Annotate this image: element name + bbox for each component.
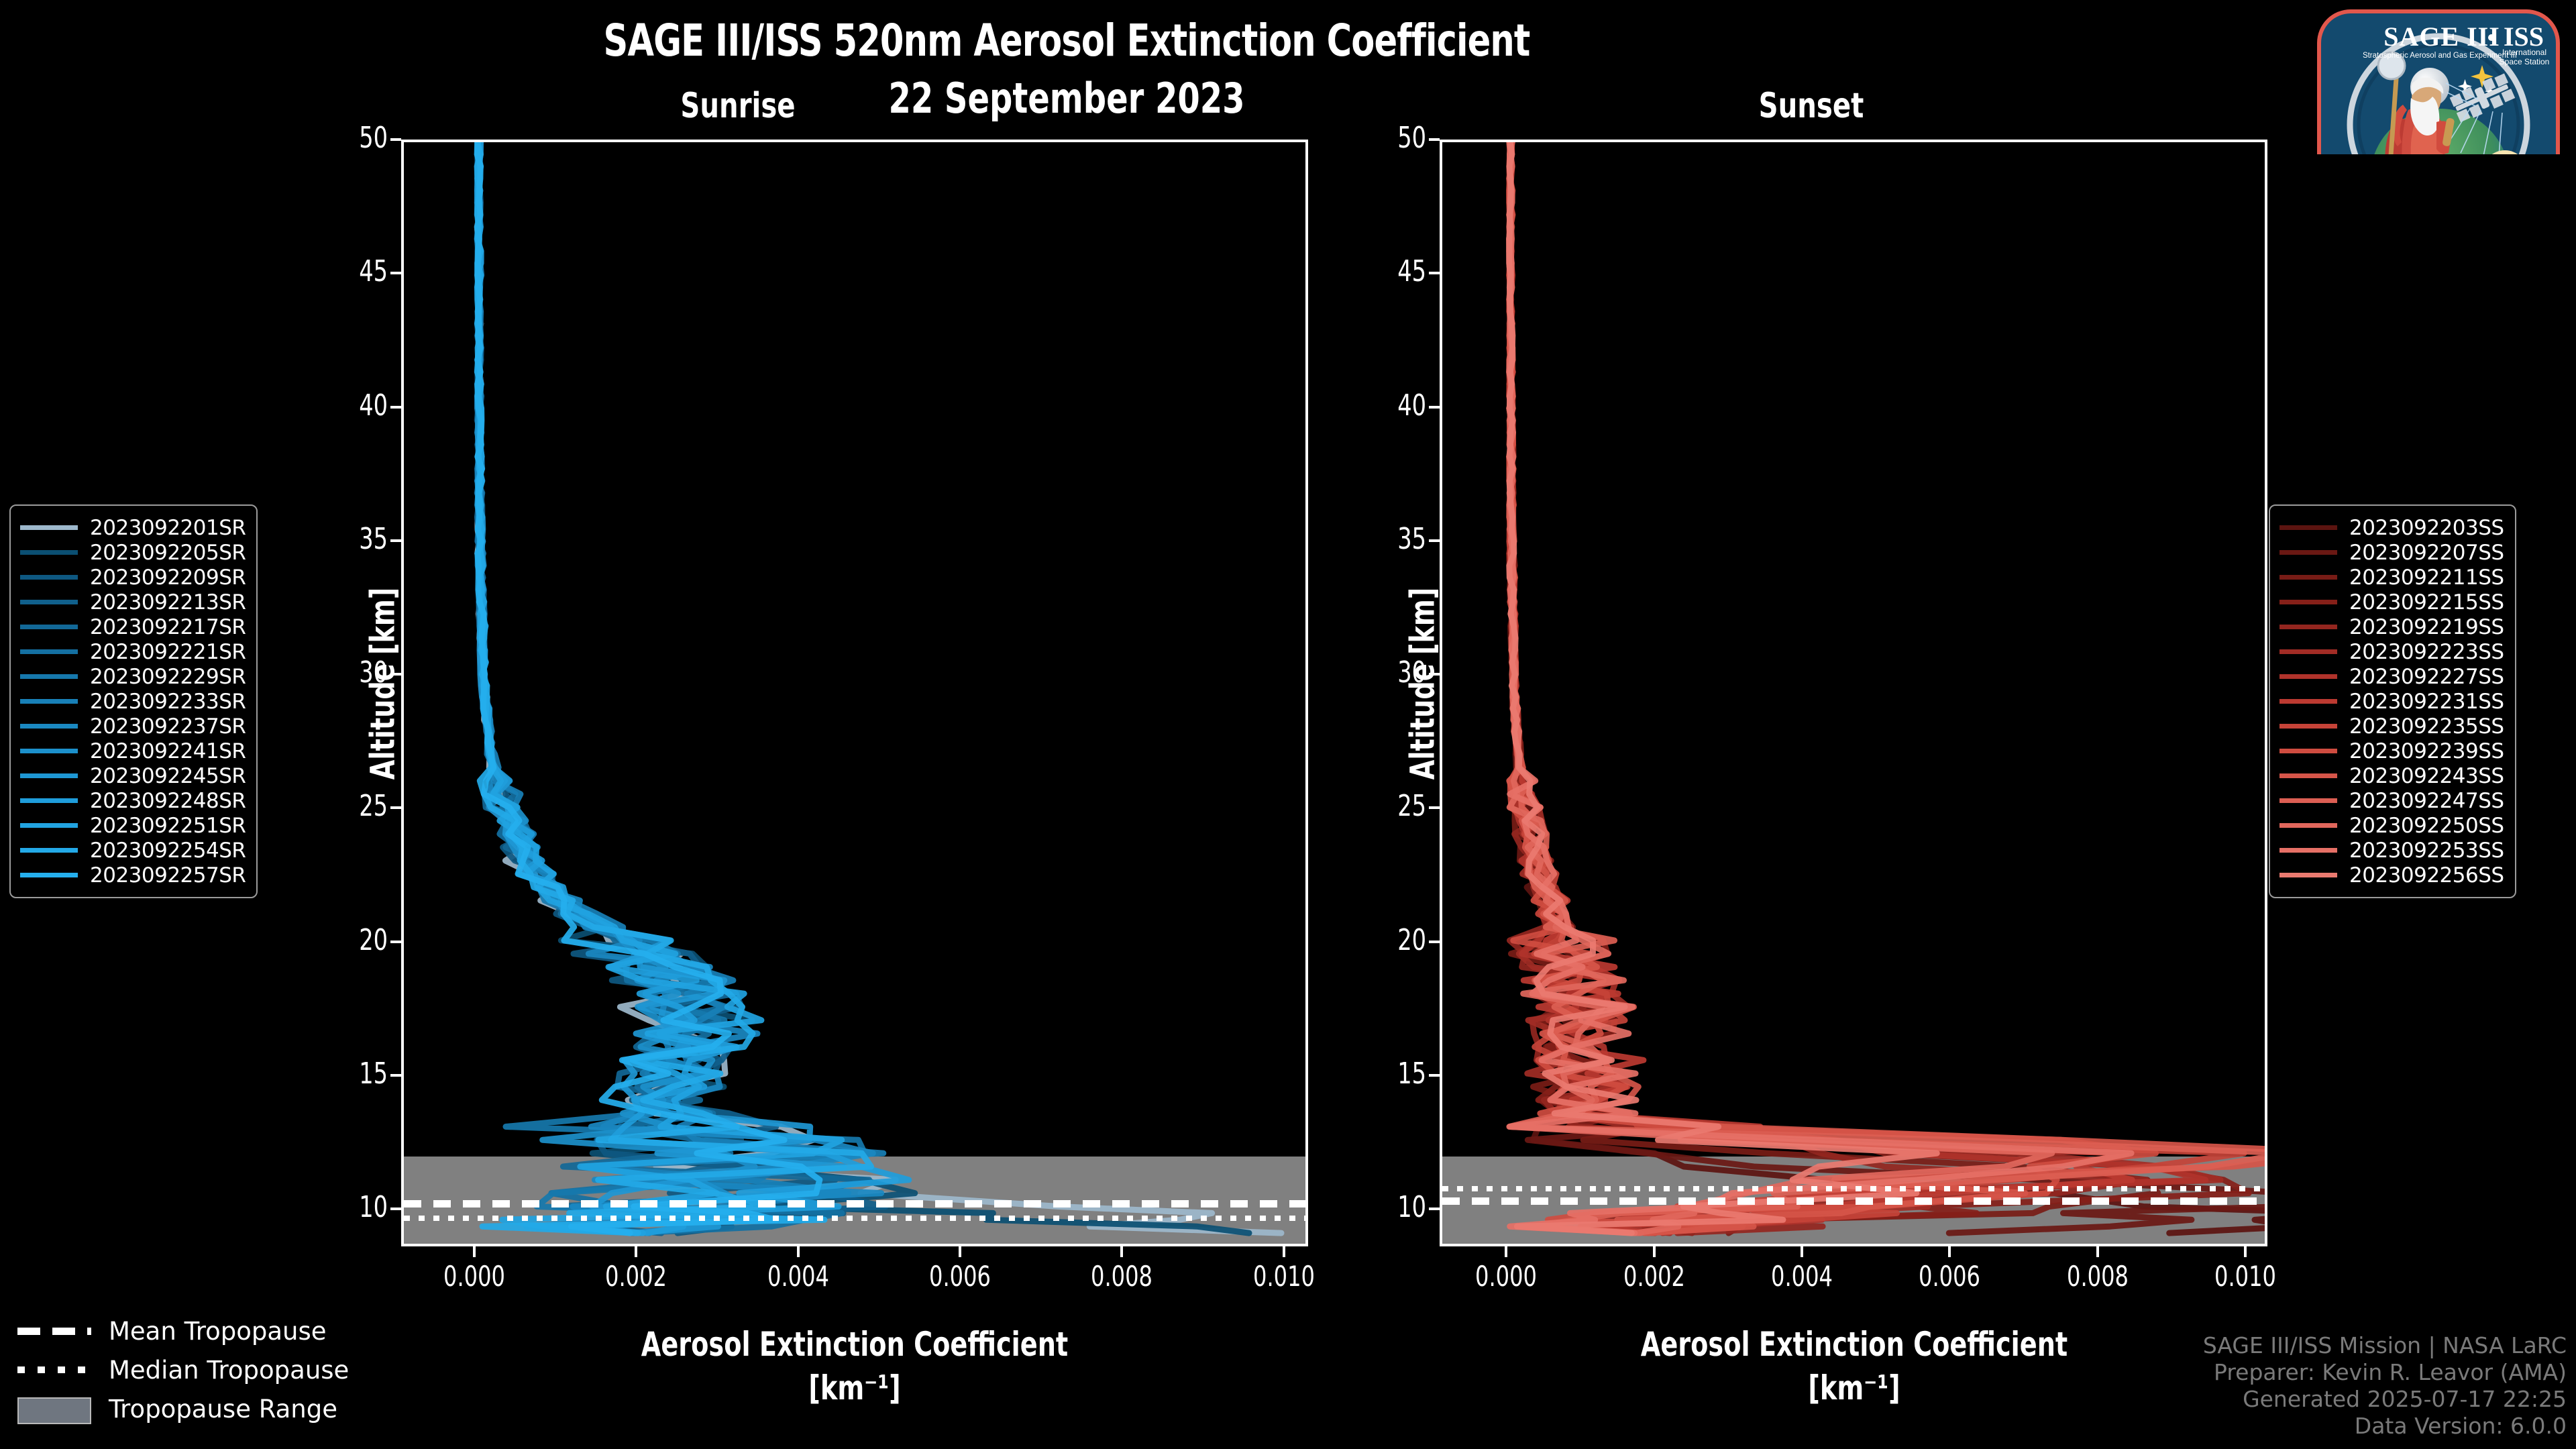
x-tick-label: 0.004 [1733,1260,1870,1293]
legend-series-label: 2023092223SS [2349,640,2504,664]
y-tick-mark [390,272,401,274]
y-tick-mark [1429,941,1440,943]
legend-item[interactable]: 2023092231SS [2279,689,2504,714]
legend-item[interactable]: 2023092213SR [20,590,246,614]
y-tick-mark [390,138,401,141]
legend-color-swatch [20,823,78,828]
legend-color-swatch [20,575,78,580]
legend-series-label: 2023092241SR [90,739,246,763]
median-tropopause-line-left [404,1216,1305,1221]
y-tick-mark [1429,272,1440,274]
x-tick-mark [1120,1246,1123,1257]
legend-series-label: 2023092217SR [90,615,246,639]
legend-item[interactable]: 2023092256SS [2279,863,2504,888]
legend-item[interactable]: 2023092233SR [20,689,246,714]
y-tick-mark [1429,673,1440,676]
legend-color-swatch [20,625,78,629]
legend-item[interactable]: 2023092243SS [2279,763,2504,788]
legend-color-swatch [2279,848,2337,853]
y-tick-label: 10 [1364,1190,1427,1224]
x-tick-label: 0.006 [1881,1260,2018,1293]
y-tick-label: 25 [325,789,388,823]
y-tick-label: 20 [1364,923,1427,957]
legend-color-swatch [20,674,78,679]
x-tick-label: 0.010 [2177,1260,2314,1293]
dotted-line-icon [17,1362,91,1377]
y-tick-label: 50 [1364,121,1427,155]
footer-line-mission: SAGE III/ISS Mission | NASA LaRC [2203,1332,2567,1359]
y-tick-label: 20 [325,923,388,957]
legend-item[interactable]: 2023092253SS [2279,838,2504,863]
legend-label-mean: Mean Tropopause [109,1317,327,1346]
sunrise-series-legend[interactable]: 2023092201SR2023092205SR2023092209SR2023… [9,504,258,898]
x-tick-mark [959,1246,961,1257]
legend-color-swatch [20,873,78,877]
legend-item[interactable]: 2023092237SR [20,714,246,739]
legend-color-swatch [2279,749,2337,753]
x-tick-mark [473,1246,476,1257]
legend-color-swatch [2279,724,2337,729]
legend-color-swatch [2279,699,2337,704]
legend-item[interactable]: 2023092257SR [20,863,246,888]
legend-color-swatch [2279,575,2337,580]
legend-color-swatch [2279,773,2337,778]
footer-credits: SAGE III/ISS Mission | NASA LaRC Prepare… [2203,1332,2567,1440]
dashed-line-icon [17,1324,91,1338]
legend-item[interactable]: 2023092223SS [2279,639,2504,664]
x-tick-label: 0.006 [892,1260,1028,1293]
legend-series-label: 2023092227SS [2349,665,2504,689]
legend-series-label: 2023092205SR [90,541,246,565]
legend-item[interactable]: 2023092201SR [20,515,246,540]
sage-iii-iss-mission-patch-logo: SAGE III ISS Stratospheric Aerosol and G… [2302,4,2571,154]
sunset-panel-title: Sunset [1696,86,1927,126]
legend-label-median: Median Tropopause [109,1356,349,1385]
legend-item[interactable]: 2023092221SR [20,639,246,664]
y-tick-label: 15 [1364,1057,1427,1091]
legend-item[interactable]: 2023092229SR [20,664,246,689]
mean-tropopause-line-right [1442,1197,2265,1205]
legend-color-swatch [2279,649,2337,654]
x-axis-label-left-line2: [km⁻¹] [627,1368,1083,1407]
legend-color-swatch [2279,550,2337,555]
legend-series-label: 2023092247SS [2349,789,2504,813]
legend-item[interactable]: 2023092239SS [2279,739,2504,763]
legend-item[interactable]: 2023092217SR [20,614,246,639]
legend-series-label: 2023092256SS [2349,863,2504,888]
legend-item-tropopause-range: Tropopause Range [17,1389,349,1428]
y-tick-mark [390,1074,401,1077]
legend-color-swatch [20,525,78,530]
svg-text:Space Station: Space Station [2500,57,2550,66]
legend-series-label: 2023092253SS [2349,839,2504,863]
y-tick-mark [390,1207,401,1210]
legend-color-swatch [20,550,78,555]
x-tick-label: 0.008 [2029,1260,2166,1293]
y-tick-label: 35 [1364,522,1427,556]
x-tick-mark [2096,1246,2099,1257]
legend-item[interactable]: 2023092247SS [2279,788,2504,813]
legend-color-swatch [2279,625,2337,629]
y-tick-mark [1429,138,1440,141]
legend-series-label: 2023092250SS [2349,814,2504,838]
x-tick-mark [797,1246,800,1257]
legend-item[interactable]: 2023092205SR [20,540,246,565]
profile-line [1509,142,2132,1233]
legend-series-label: 2023092235SS [2349,714,2504,739]
svg-text:SAGE III: SAGE III [2383,21,2500,52]
legend-series-label: 2023092211SS [2349,566,2504,590]
x-tick-mark [1653,1246,1656,1257]
legend-series-label: 2023092213SR [90,590,246,614]
legend-item[interactable]: 2023092207SS [2279,540,2504,565]
profile-line [1509,142,1937,1233]
x-tick-mark [2244,1246,2247,1257]
legend-item[interactable]: 2023092250SS [2279,813,2504,838]
profile-line [477,142,1249,1233]
y-tick-mark [1429,406,1440,409]
y-tick-label: 40 [325,388,388,423]
y-tick-mark [390,539,401,542]
legend-item[interactable]: 2023092215SS [2279,590,2504,614]
legend-color-swatch [2279,674,2337,679]
x-axis-label-right-line1: Aerosol Extinction Coefficient [1626,1325,2082,1364]
y-tick-label: 30 [1364,655,1427,690]
median-tropopause-line-right [1442,1186,2265,1191]
legend-item[interactable]: 2023092241SR [20,739,246,763]
legend-series-label: 2023092251SR [90,814,246,838]
legend-color-swatch [20,699,78,704]
y-tick-label: 50 [325,121,388,155]
y-tick-mark [390,806,401,809]
legend-item[interactable]: 2023092245SR [20,763,246,788]
legend-color-swatch [20,848,78,853]
footer-line-generated: Generated 2025-07-17 22:25 [2203,1386,2567,1413]
legend-color-swatch [20,724,78,729]
legend-color-swatch [2279,525,2337,530]
legend-item-mean-tropopause: Mean Tropopause [17,1311,349,1350]
y-tick-mark [1429,806,1440,809]
x-tick-label: 0.000 [1438,1260,1574,1293]
legend-color-swatch [20,749,78,753]
y-tick-label: 30 [325,655,388,690]
legend-item[interactable]: 2023092211SS [2279,565,2504,590]
legend-series-label: 2023092219SS [2349,615,2504,639]
x-tick-label: 0.004 [730,1260,867,1293]
sunrise-panel-title: Sunrise [623,86,853,126]
legend-item[interactable]: 2023092219SS [2279,614,2504,639]
tropopause-legend: Mean Tropopause Median Tropopause Tropop… [17,1311,349,1428]
y-tick-mark [1429,539,1440,542]
legend-item[interactable]: 2023092235SS [2279,714,2504,739]
legend-series-label: 2023092221SR [90,640,246,664]
sunset-curves [1442,142,2265,1244]
y-tick-label: 25 [1364,789,1427,823]
y-tick-mark [390,673,401,676]
legend-item[interactable]: 2023092227SS [2279,664,2504,689]
legend-series-label: 2023092231SS [2349,690,2504,714]
x-tick-label: 0.000 [406,1260,543,1293]
legend-series-label: 2023092215SS [2349,590,2504,614]
legend-series-label: 2023092239SS [2349,739,2504,763]
legend-color-swatch [20,773,78,778]
legend-color-swatch [20,600,78,604]
legend-item-median-tropopause: Median Tropopause [17,1350,349,1389]
sunrise-curves [404,142,1305,1244]
legend-series-label: 2023092248SR [90,789,246,813]
y-tick-mark [390,941,401,943]
legend-series-label: 2023092237SR [90,714,246,739]
legend-color-swatch [2279,600,2337,604]
legend-item[interactable]: 2023092251SR [20,813,246,838]
y-tick-label: 10 [325,1190,388,1224]
y-tick-mark [1429,1074,1440,1077]
legend-series-label: 2023092233SR [90,690,246,714]
legend-label-range: Tropopause Range [109,1395,337,1424]
mean-tropopause-line-left [404,1200,1305,1207]
x-tick-mark [1801,1246,1803,1257]
x-tick-label: 0.010 [1216,1260,1352,1293]
legend-series-label: 2023092257SR [90,863,246,888]
legend-item[interactable]: 2023092248SR [20,788,246,813]
x-tick-label: 0.008 [1053,1260,1190,1293]
footer-line-preparer: Preparer: Kevin R. Leavor (AMA) [2203,1359,2567,1386]
legend-color-swatch [2279,823,2337,828]
x-axis-label-left-line1: Aerosol Extinction Coefficient [627,1325,1083,1364]
legend-series-label: 2023092207SS [2349,541,2504,565]
svg-text:International: International [2502,48,2546,57]
legend-series-label: 2023092229SR [90,665,246,689]
footer-line-version: Data Version: 6.0.0 [2203,1413,2567,1440]
legend-series-label: 2023092201SR [90,516,246,540]
x-tick-label: 0.002 [1586,1260,1723,1293]
x-tick-mark [1948,1246,1951,1257]
page-title: SAGE III/ISS 520nm Aerosol Extinction Co… [150,15,1984,66]
legend-series-label: 2023092209SR [90,566,246,590]
x-tick-label: 0.002 [568,1260,704,1293]
y-tick-label: 45 [1364,254,1427,288]
y-tick-label: 40 [1364,388,1427,423]
x-tick-mark [1505,1246,1507,1257]
legend-color-swatch [2279,873,2337,877]
sunset-plot-area[interactable] [1440,140,2267,1246]
svg-text:Stratospheric Aerosol and Gas: Stratospheric Aerosol and Gas Experiment… [2363,52,2517,60]
x-axis-label-right-line2: [km⁻¹] [1626,1368,2082,1407]
x-tick-mark [1283,1246,1285,1257]
sunset-series-legend[interactable]: 2023092203SS2023092207SS2023092211SS2023… [2269,504,2516,898]
y-tick-label: 15 [325,1057,388,1091]
y-tick-label: 45 [325,254,388,288]
legend-item[interactable]: 2023092254SR [20,838,246,863]
legend-item[interactable]: 2023092209SR [20,565,246,590]
legend-color-swatch [20,649,78,654]
y-tick-mark [390,406,401,409]
x-tick-mark [635,1246,637,1257]
sunrise-plot-area[interactable] [401,140,1308,1246]
legend-series-label: 2023092245SR [90,764,246,788]
legend-series-label: 2023092254SR [90,839,246,863]
profile-line [477,142,820,1233]
y-tick-mark [1429,1207,1440,1210]
legend-color-swatch [2279,798,2337,803]
legend-item[interactable]: 2023092203SS [2279,515,2504,540]
profile-line [477,142,1281,1233]
legend-color-swatch [20,798,78,803]
y-tick-label: 35 [325,522,388,556]
legend-series-label: 2023092203SS [2349,516,2504,540]
filled-box-icon [17,1401,91,1416]
legend-series-label: 2023092243SS [2349,764,2504,788]
